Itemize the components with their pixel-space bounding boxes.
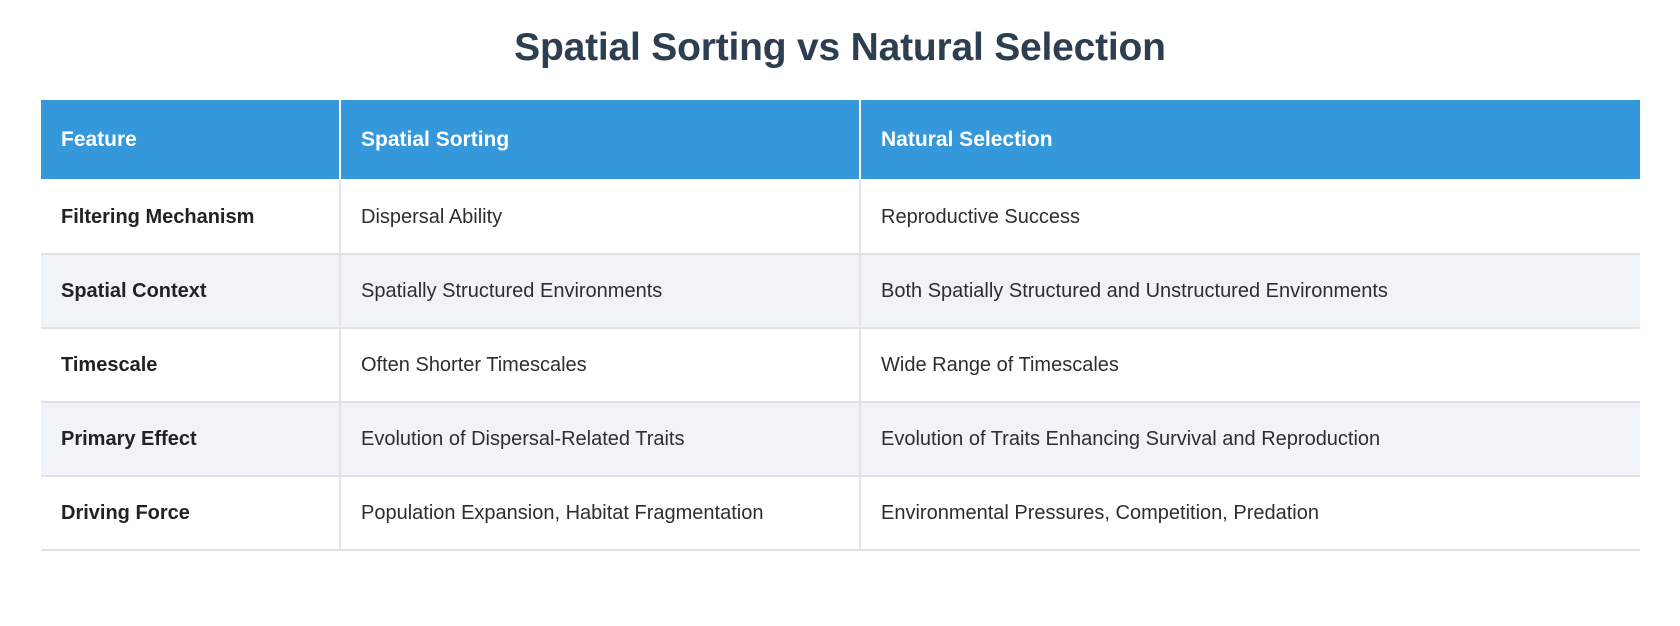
table-row: Spatial Context Spatially Structured Env…	[41, 254, 1640, 328]
table-row: Driving Force Population Expansion, Habi…	[41, 476, 1640, 550]
comparison-table-container: Feature Spatial Sorting Natural Selectio…	[41, 100, 1640, 551]
cell-natural-selection: Wide Range of Timescales	[860, 328, 1640, 402]
column-header-spatial-sorting[interactable]: Spatial Sorting	[340, 100, 860, 180]
cell-spatial-sorting: Often Shorter Timescales	[340, 328, 860, 402]
cell-spatial-sorting: Dispersal Ability	[340, 180, 860, 254]
cell-natural-selection: Evolution of Traits Enhancing Survival a…	[860, 402, 1640, 476]
column-header-natural-selection[interactable]: Natural Selection	[860, 100, 1640, 180]
cell-natural-selection: Environmental Pressures, Competition, Pr…	[860, 476, 1640, 550]
page-root: Spatial Sorting vs Natural Selection Fea…	[0, 0, 1680, 626]
table-row: Timescale Often Shorter Timescales Wide …	[41, 328, 1640, 402]
cell-spatial-sorting: Population Expansion, Habitat Fragmentat…	[340, 476, 860, 550]
cell-feature: Driving Force	[41, 476, 340, 550]
cell-natural-selection: Both Spatially Structured and Unstructur…	[860, 254, 1640, 328]
cell-feature: Filtering Mechanism	[41, 180, 340, 254]
cell-spatial-sorting: Spatially Structured Environments	[340, 254, 860, 328]
cell-feature: Primary Effect	[41, 402, 340, 476]
table-row: Primary Effect Evolution of Dispersal-Re…	[41, 402, 1640, 476]
table-header: Feature Spatial Sorting Natural Selectio…	[41, 100, 1640, 180]
table-row: Filtering Mechanism Dispersal Ability Re…	[41, 180, 1640, 254]
cell-natural-selection: Reproductive Success	[860, 180, 1640, 254]
cell-feature: Timescale	[41, 328, 340, 402]
page-title: Spatial Sorting vs Natural Selection	[0, 0, 1680, 73]
table-body: Filtering Mechanism Dispersal Ability Re…	[41, 180, 1640, 550]
column-header-feature[interactable]: Feature	[41, 100, 340, 180]
cell-feature: Spatial Context	[41, 254, 340, 328]
table-header-row: Feature Spatial Sorting Natural Selectio…	[41, 100, 1640, 180]
cell-spatial-sorting: Evolution of Dispersal-Related Traits	[340, 402, 860, 476]
comparison-table: Feature Spatial Sorting Natural Selectio…	[41, 100, 1640, 551]
